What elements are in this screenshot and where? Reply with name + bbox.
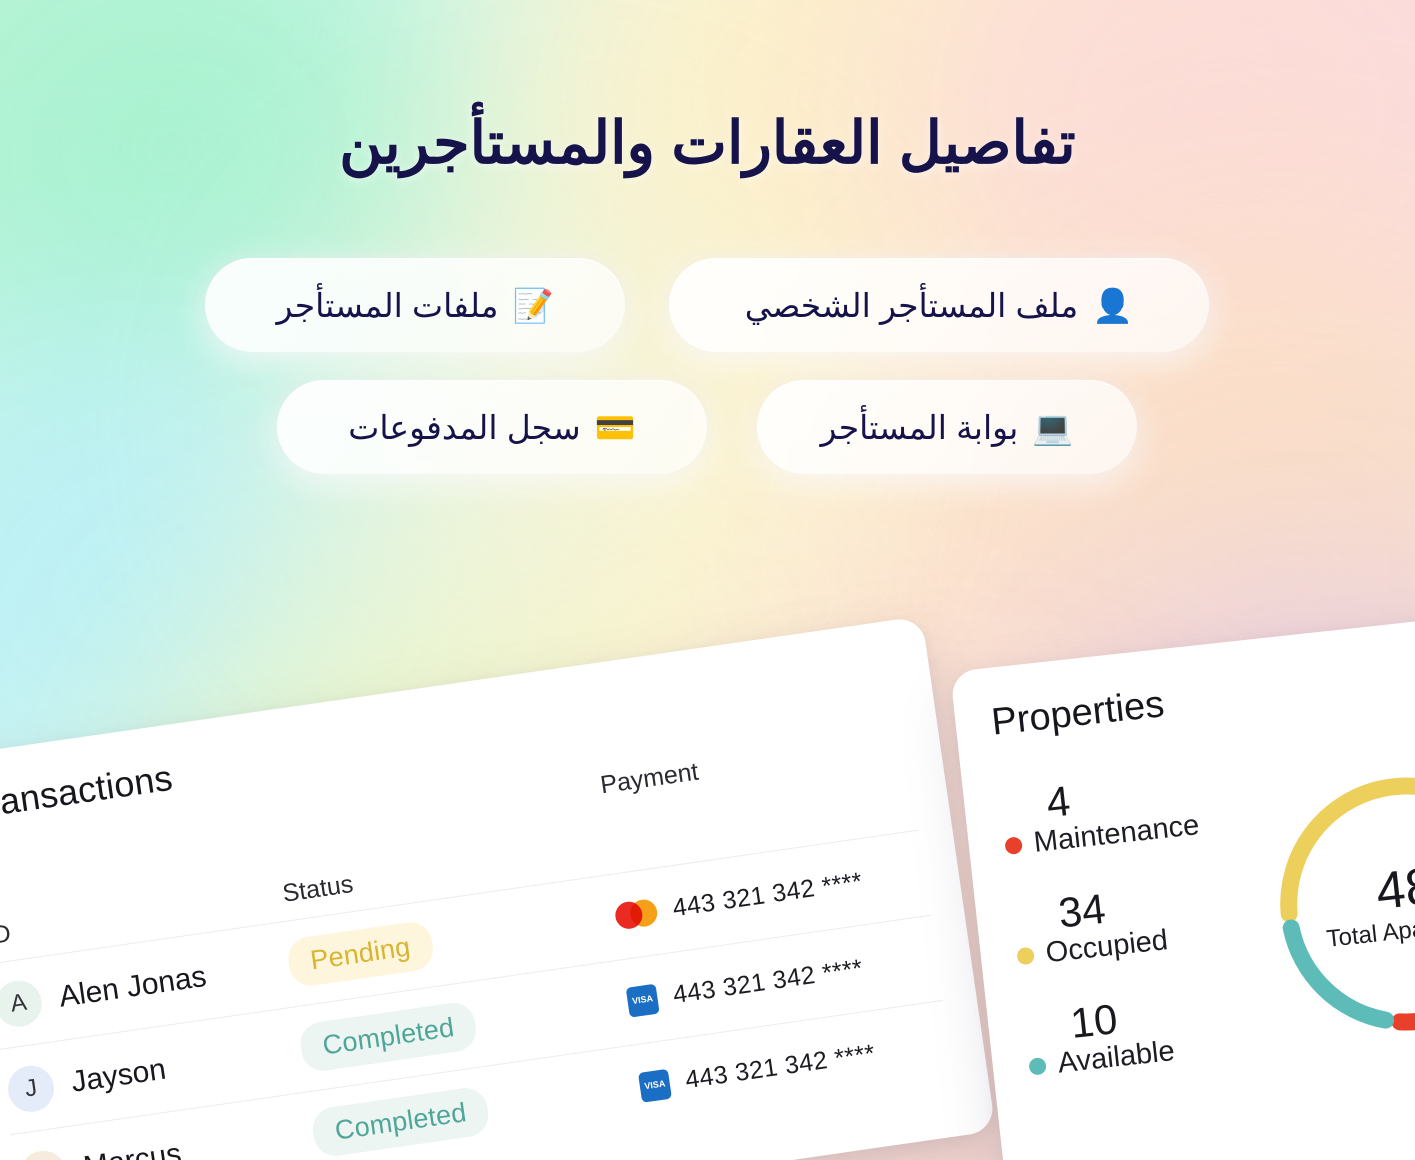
- page-title: تفاصيل العقارات والمستأجرين: [0, 108, 1415, 177]
- properties-title: Properties: [989, 644, 1415, 745]
- properties-legend: 4 Maintenance 34 Occupied 10: [999, 760, 1282, 1118]
- avatar: J: [5, 1062, 57, 1114]
- tenant-name: Alen Jonas: [57, 959, 209, 1014]
- properties-card: Properties 4 Maintenance 34 Occupied: [950, 606, 1415, 1160]
- visa-card-icon: VISA: [626, 983, 660, 1017]
- status-badge: Completed: [298, 1000, 480, 1074]
- donut-total-value: 48: [1374, 860, 1415, 918]
- pill-label: ملفات المستأجر: [276, 286, 498, 325]
- credit-card-icon: 💳: [595, 411, 636, 444]
- status-badge: Pending: [285, 919, 435, 988]
- mastercard-icon: [614, 898, 659, 931]
- bust-in-silhouette-icon: 👤: [1092, 289, 1133, 322]
- dot-icon: [1004, 836, 1023, 855]
- visa-card-icon: VISA: [638, 1068, 672, 1102]
- pill-tenant-portal[interactable]: 💻 بوابة المستأجر: [757, 380, 1137, 474]
- legend-item-maintenance: 4 Maintenance: [999, 760, 1254, 863]
- card-number: 443 321 342 ****: [671, 954, 864, 1010]
- column-header-payment: Payment: [599, 728, 908, 801]
- feature-pill-group: 👤 ملف المستأجر الشخصي 📝 ملفات المستأجر 💻…: [0, 258, 1415, 488]
- pill-label: سجل المدفوعات: [348, 408, 580, 447]
- card-number: 443 321 342 ****: [684, 1039, 877, 1095]
- pill-label: ملف المستأجر الشخصي: [745, 286, 1079, 325]
- avatar: A: [0, 977, 45, 1029]
- transactions-card: Transactions ID Status Payment A Alen Jo…: [0, 616, 996, 1160]
- memo-icon: 📝: [512, 289, 553, 322]
- properties-donut-chart: 48 Total Apartment: [1247, 744, 1415, 1064]
- dot-icon: [1016, 947, 1035, 966]
- tenant-name: Jayson: [69, 1052, 168, 1099]
- legend-item-available: 10 Available: [1023, 981, 1278, 1084]
- status-badge: Completed: [310, 1085, 492, 1159]
- tenant-name: Marcus: [81, 1137, 183, 1160]
- dot-icon: [1028, 1057, 1047, 1076]
- pill-payment-history[interactable]: 💳 سجل المدفوعات: [277, 380, 707, 474]
- legend-item-occupied: 34 Occupied: [1011, 870, 1266, 973]
- pill-label: بوابة المستأجر: [821, 408, 1019, 447]
- card-number: 443 321 342 ****: [671, 867, 864, 923]
- pill-tenant-profile[interactable]: 👤 ملف المستأجر الشخصي: [669, 258, 1209, 352]
- laptop-icon: 💻: [1032, 411, 1073, 444]
- pill-tenant-files[interactable]: 📝 ملفات المستأجر: [205, 258, 625, 352]
- avatar: M: [17, 1147, 69, 1160]
